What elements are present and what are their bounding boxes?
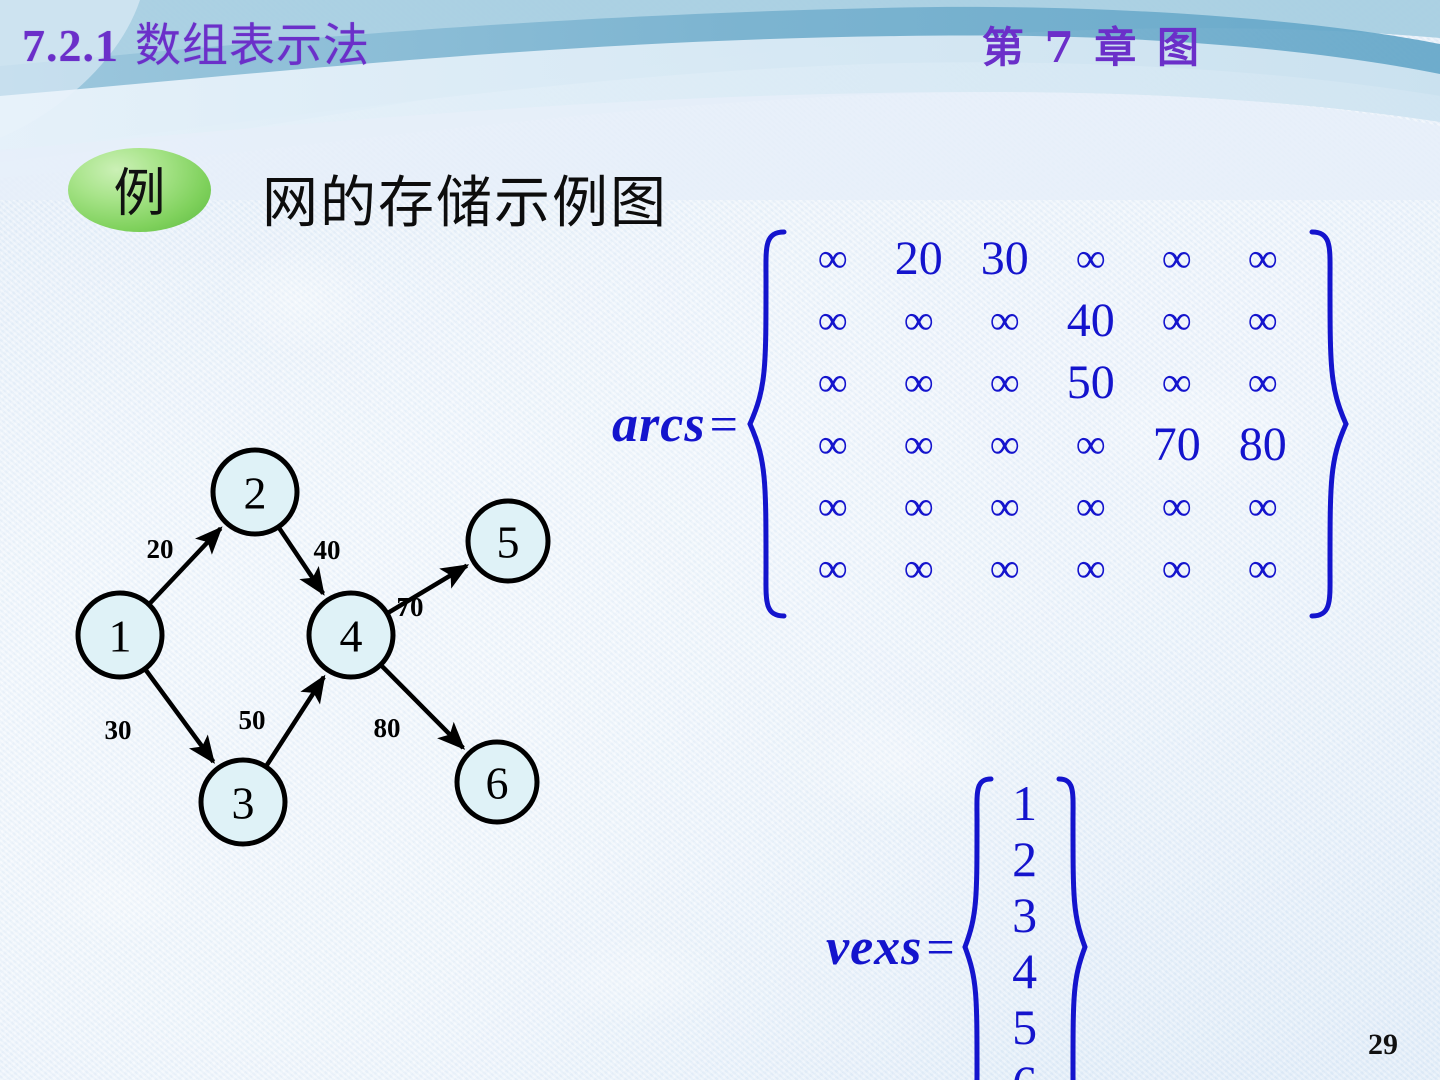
arcs-cell-r1-c5: ∞ (1134, 228, 1220, 290)
vexs-equals-sign: = (926, 918, 954, 976)
graph-node-label-3: 3 (232, 778, 255, 829)
arcs-cell-r3-c2: ∞ (876, 352, 962, 414)
graph-node-label-6: 6 (486, 758, 509, 809)
arcs-cell-r1-c1: ∞ (790, 228, 876, 290)
arcs-cell-r3-c3: ∞ (962, 352, 1048, 414)
arcs-cell-r5-c1: ∞ (790, 476, 876, 538)
graph-node-3[interactable]: 3 (201, 760, 285, 844)
right-curly-brace-icon (1055, 775, 1089, 1080)
graph-weight-4-6: 80 (374, 713, 401, 743)
arcs-cell-r6-c3: ∞ (962, 538, 1048, 600)
graph-nodes: 123456 (78, 450, 548, 844)
vexs-vector-block: vexs = 123456 (826, 775, 1089, 1080)
graph-node-label-4: 4 (340, 611, 363, 662)
vexs-cell-3: 3 (995, 887, 1055, 943)
arcs-cell-r1-c3: 30 (962, 228, 1048, 290)
arcs-cell-r6-c1: ∞ (790, 538, 876, 600)
graph-node-label-2: 2 (244, 468, 267, 519)
arcs-cell-r3-c4: 50 (1048, 352, 1134, 414)
arcs-cell-r6-c4: ∞ (1048, 538, 1134, 600)
example-badge-label: 例 (68, 148, 211, 232)
example-badge: 例 (68, 148, 211, 232)
graph-weight-1-2: 20 (147, 534, 174, 564)
graph-node-label-5: 5 (497, 517, 520, 568)
graph-node-4[interactable]: 4 (309, 593, 393, 677)
arcs-cell-r4-c6: 80 (1220, 414, 1306, 476)
arcs-cell-r1-c2: 20 (876, 228, 962, 290)
graph-node-1[interactable]: 1 (78, 593, 162, 677)
section-heading: 7.2.1数组表示法 (22, 9, 370, 75)
vexs-label: vexs (826, 918, 922, 977)
chapter-title: 第 7 章 图 (982, 14, 1202, 75)
arcs-cell-r3-c6: ∞ (1220, 352, 1306, 414)
vexs-cell-4: 4 (995, 943, 1055, 999)
arcs-cell-r4-c5: 70 (1134, 414, 1220, 476)
graph-node-6[interactable]: 6 (457, 742, 537, 822)
arcs-matrix-block: arcs = ∞2030∞∞∞∞∞∞40∞∞∞∞∞50∞∞∞∞∞∞7080∞∞∞… (612, 228, 1352, 620)
graph-weight-4-5: 70 (397, 592, 424, 622)
example-caption: 网的存储示例图 (262, 158, 668, 239)
page-number: 29 (1368, 1028, 1398, 1062)
arcs-cell-r2-c1: ∞ (790, 290, 876, 352)
arcs-label: arcs (612, 395, 706, 454)
graph-svg: 123456 203040507080 (55, 430, 615, 870)
arcs-cell-r5-c3: ∞ (962, 476, 1048, 538)
arcs-cell-r4-c2: ∞ (876, 414, 962, 476)
graph-weight-1-3: 30 (105, 715, 132, 745)
graph-edge-1-to-3 (146, 670, 214, 762)
section-title: 数组表示法 (135, 18, 370, 72)
section-number: 7.2.1 (22, 20, 119, 71)
graph-node-label-1: 1 (109, 611, 132, 662)
arcs-equals-sign: = (710, 395, 738, 453)
arcs-cell-r1-c4: ∞ (1048, 228, 1134, 290)
arcs-matrix-grid: ∞2030∞∞∞∞∞∞40∞∞∞∞∞50∞∞∞∞∞∞7080∞∞∞∞∞∞∞∞∞∞… (790, 228, 1306, 620)
arcs-cell-r3-c1: ∞ (790, 352, 876, 414)
arcs-cell-r6-c6: ∞ (1220, 538, 1306, 600)
left-curly-brace-icon (961, 775, 995, 1080)
graph-weight-3-4: 50 (239, 705, 266, 735)
graph-edges (146, 528, 467, 766)
vexs-cell-1: 1 (995, 775, 1055, 831)
vexs-cell-6: 6 (995, 1055, 1055, 1080)
arcs-cell-r5-c5: ∞ (1134, 476, 1220, 538)
arcs-cell-r4-c3: ∞ (962, 414, 1048, 476)
graph-edge-3-to-4 (266, 677, 323, 766)
arcs-cell-r2-c4: 40 (1048, 290, 1134, 352)
vexs-brace-group: 123456 (961, 775, 1089, 1080)
graph-node-2[interactable]: 2 (213, 450, 297, 534)
arcs-cell-r2-c5: ∞ (1134, 290, 1220, 352)
arcs-cell-r3-c5: ∞ (1134, 352, 1220, 414)
arcs-brace-group: ∞2030∞∞∞∞∞∞40∞∞∞∞∞50∞∞∞∞∞∞7080∞∞∞∞∞∞∞∞∞∞… (744, 228, 1352, 620)
left-curly-brace-icon (744, 228, 790, 620)
arcs-cell-r2-c2: ∞ (876, 290, 962, 352)
arcs-cell-r6-c5: ∞ (1134, 538, 1220, 600)
arcs-cell-r6-c2: ∞ (876, 538, 962, 600)
slide-canvas: 7.2.1数组表示法 第 7 章 图 例 网的存储示例图 123456 2030… (0, 0, 1440, 1080)
vexs-vector-grid: 123456 (995, 775, 1055, 1080)
network-graph-diagram: 123456 203040507080 (55, 430, 615, 870)
arcs-cell-r5-c2: ∞ (876, 476, 962, 538)
vexs-cell-5: 5 (995, 999, 1055, 1055)
arcs-cell-r5-c4: ∞ (1048, 476, 1134, 538)
arcs-cell-r2-c6: ∞ (1220, 290, 1306, 352)
graph-node-5[interactable]: 5 (468, 501, 548, 581)
right-curly-brace-icon (1306, 228, 1352, 620)
arcs-cell-r2-c3: ∞ (962, 290, 1048, 352)
arcs-cell-r1-c6: ∞ (1220, 228, 1306, 290)
arcs-cell-r4-c1: ∞ (790, 414, 876, 476)
graph-weight-2-4: 40 (314, 535, 341, 565)
arcs-cell-r4-c4: ∞ (1048, 414, 1134, 476)
vexs-cell-2: 2 (995, 831, 1055, 887)
arcs-cell-r5-c6: ∞ (1220, 476, 1306, 538)
